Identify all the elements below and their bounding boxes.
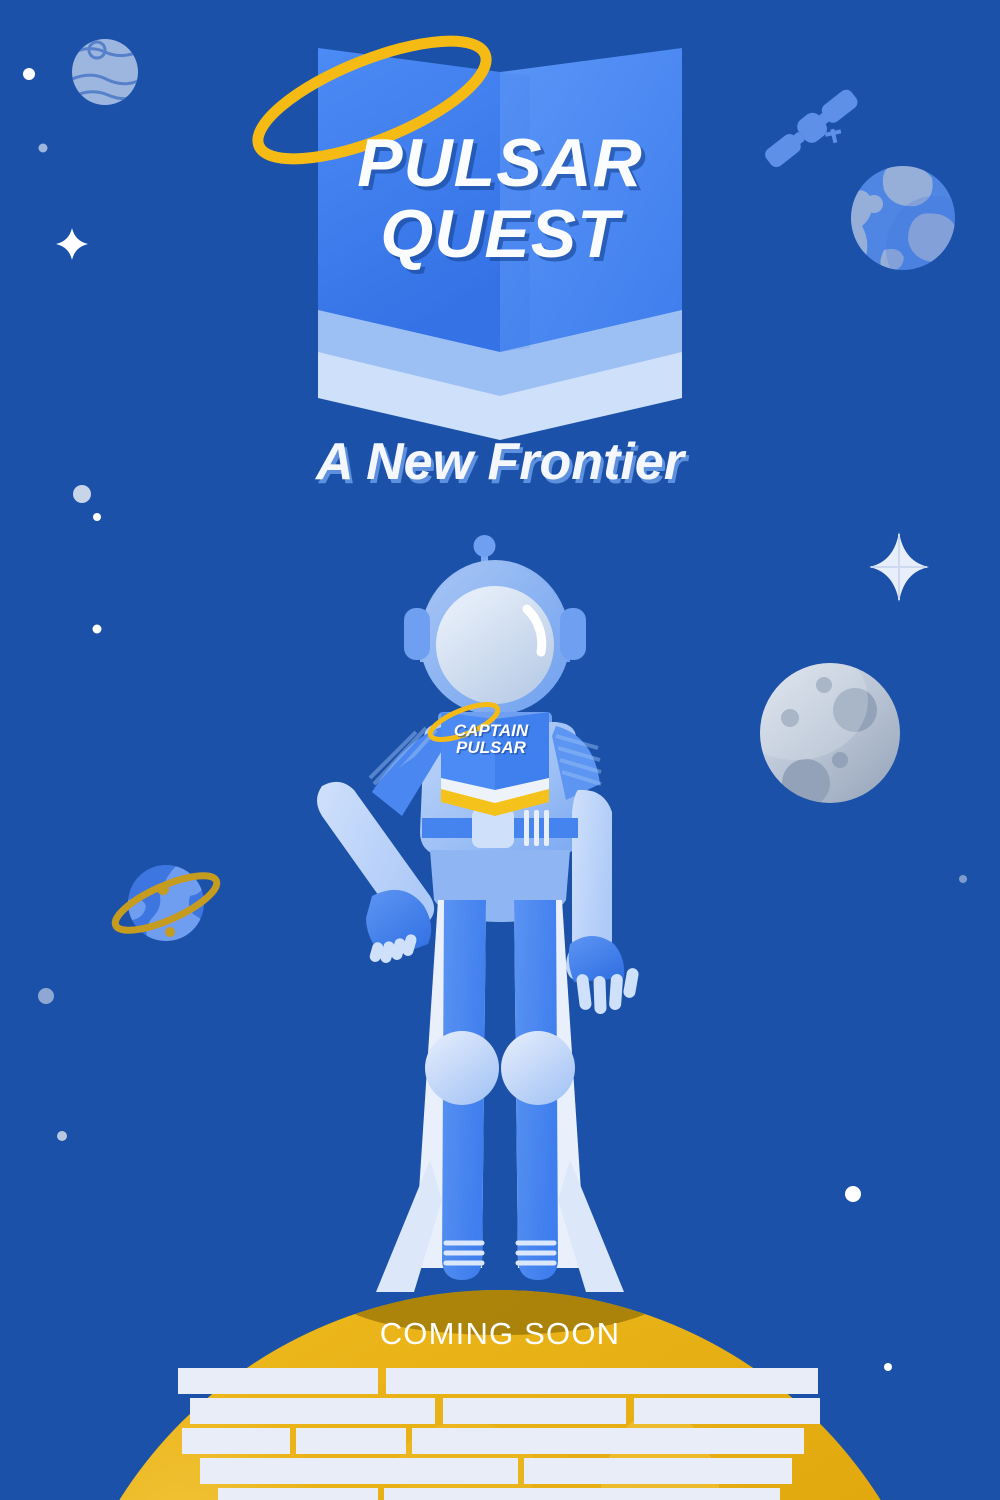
placeholder-bar xyxy=(524,1458,792,1484)
poster-root: PULSAR QUEST A New Frontier CAPTAIN PULS… xyxy=(0,0,1000,1500)
placeholder-bar xyxy=(634,1398,820,1424)
knee-pad-right xyxy=(501,1031,575,1105)
placeholder-bar xyxy=(178,1368,378,1394)
placeholder-bar xyxy=(386,1368,818,1394)
placeholder-bar xyxy=(443,1398,626,1424)
knee-pad-left xyxy=(425,1031,499,1105)
placeholder-bar xyxy=(200,1458,518,1484)
placeholder-bar xyxy=(384,1488,780,1500)
placeholder-bar xyxy=(218,1488,378,1500)
placeholder-bar xyxy=(182,1428,290,1454)
coming-soon-label: COMING SOON xyxy=(0,1316,1000,1352)
space-background-layer xyxy=(0,0,1000,1500)
belt-stripes xyxy=(524,810,549,846)
placeholder-bar xyxy=(296,1428,406,1454)
placeholder-bars xyxy=(178,1368,820,1500)
helmet-ear-right xyxy=(560,608,586,660)
poster-subtitle: A New Frontier xyxy=(0,432,1000,492)
placeholder-bar xyxy=(190,1398,435,1424)
helmet-ear-left xyxy=(404,608,430,660)
placeholder-bar xyxy=(412,1428,804,1454)
helmet-visor xyxy=(436,586,554,704)
